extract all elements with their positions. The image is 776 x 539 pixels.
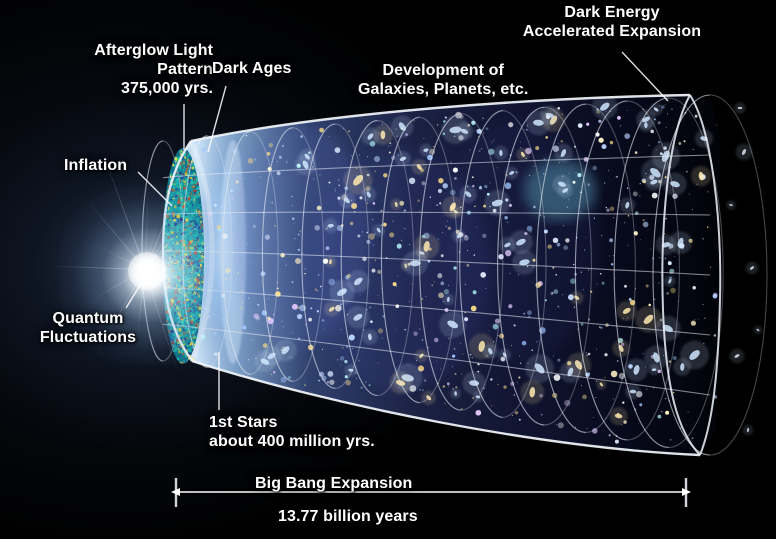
star — [369, 384, 371, 386]
star — [383, 173, 387, 177]
star — [437, 273, 442, 278]
star — [251, 340, 252, 341]
star — [609, 256, 610, 257]
star — [349, 334, 355, 340]
star — [507, 222, 508, 223]
star — [629, 298, 632, 301]
star — [557, 243, 561, 247]
cmb-pixel — [194, 182, 197, 184]
star — [674, 256, 675, 257]
star — [422, 390, 423, 391]
star — [318, 274, 320, 276]
star — [342, 347, 343, 348]
star — [335, 188, 336, 189]
star — [628, 245, 629, 246]
star — [462, 354, 463, 355]
star — [483, 132, 484, 133]
star — [434, 281, 435, 282]
star — [646, 284, 649, 287]
star — [504, 216, 507, 219]
star — [260, 177, 261, 178]
star — [242, 372, 243, 373]
star — [577, 173, 581, 177]
star — [479, 150, 481, 152]
star — [294, 238, 295, 239]
star — [588, 269, 589, 270]
star — [595, 397, 596, 398]
star — [255, 159, 256, 160]
outer-galaxies — [726, 102, 762, 435]
star — [345, 375, 348, 378]
star — [589, 373, 590, 374]
star — [665, 398, 666, 399]
star — [710, 267, 711, 268]
star — [567, 207, 568, 208]
star — [722, 361, 723, 362]
star — [574, 306, 575, 307]
star — [329, 380, 334, 385]
star — [242, 302, 243, 303]
star — [531, 349, 533, 351]
cmb-pixel — [192, 167, 194, 169]
star — [556, 424, 557, 425]
star — [474, 205, 476, 207]
star — [624, 285, 627, 288]
star — [444, 289, 449, 294]
star — [453, 266, 456, 269]
star — [493, 324, 499, 330]
star — [248, 359, 249, 360]
star — [658, 121, 661, 124]
star — [517, 382, 518, 383]
star — [247, 244, 248, 245]
star — [519, 356, 520, 357]
star — [335, 147, 341, 153]
star — [397, 275, 398, 276]
label-afterglow-light-pattern: Afterglow Light Pattern 375,000 yrs. — [28, 42, 213, 99]
star — [300, 135, 303, 138]
star — [664, 233, 665, 234]
star — [295, 258, 301, 264]
star — [661, 411, 663, 413]
star — [283, 326, 284, 327]
cmb-pixel — [184, 155, 186, 156]
star — [393, 282, 397, 286]
star — [530, 231, 531, 232]
star — [470, 354, 472, 356]
star — [639, 195, 640, 196]
star — [273, 371, 276, 374]
star — [670, 288, 676, 294]
star — [668, 261, 670, 263]
star — [520, 362, 521, 363]
star — [578, 123, 583, 128]
star — [292, 332, 293, 333]
star — [643, 222, 649, 228]
star — [717, 122, 722, 127]
star — [604, 182, 605, 183]
star — [763, 393, 764, 394]
star — [719, 417, 720, 418]
cmb-pixel — [174, 165, 175, 167]
star — [242, 325, 246, 329]
label-first-stars: 1st Stars about 400 million yrs. — [209, 414, 375, 452]
star — [642, 219, 644, 221]
star — [515, 411, 518, 414]
label-dark-energy: Dark Energy Accelerated Expansion — [498, 4, 726, 42]
star — [581, 385, 582, 386]
star — [633, 191, 638, 196]
star — [673, 356, 677, 360]
star — [511, 345, 512, 346]
star — [293, 223, 294, 224]
star — [726, 166, 728, 168]
star — [437, 124, 438, 125]
star — [338, 184, 340, 186]
star — [338, 179, 339, 180]
star — [471, 306, 477, 312]
star — [606, 209, 609, 212]
star — [554, 374, 561, 381]
star — [527, 226, 533, 232]
star — [608, 170, 609, 171]
star — [297, 174, 298, 175]
star — [263, 310, 264, 311]
star — [317, 291, 318, 292]
star — [380, 210, 382, 212]
star — [469, 149, 470, 150]
star — [315, 288, 318, 291]
star — [737, 249, 738, 250]
cmb-pixel — [182, 161, 185, 164]
star — [460, 343, 461, 344]
star — [455, 386, 457, 388]
cmb-pixel — [179, 166, 181, 168]
star — [448, 285, 449, 286]
cmb-pixel — [187, 155, 189, 158]
star — [671, 108, 673, 110]
star — [508, 122, 513, 127]
star — [575, 172, 576, 173]
star — [253, 225, 256, 228]
star — [520, 142, 521, 143]
star — [328, 136, 329, 137]
star — [472, 176, 474, 178]
star — [526, 129, 528, 131]
star — [348, 130, 350, 132]
star — [609, 238, 613, 242]
star — [359, 360, 360, 361]
star — [372, 269, 376, 273]
star — [563, 225, 564, 226]
star — [481, 148, 482, 149]
star — [652, 193, 658, 199]
star — [721, 331, 727, 337]
star — [323, 329, 324, 330]
star — [514, 394, 515, 395]
star — [596, 349, 597, 350]
star — [520, 147, 521, 148]
star — [473, 254, 475, 256]
star — [689, 193, 690, 194]
star — [508, 159, 509, 160]
star — [650, 249, 651, 250]
star — [297, 314, 302, 319]
star — [640, 239, 641, 240]
star — [326, 246, 330, 250]
star — [649, 145, 650, 146]
star — [617, 360, 619, 362]
star — [319, 174, 320, 175]
star — [471, 121, 473, 123]
star — [568, 199, 569, 200]
star — [605, 377, 606, 378]
star — [269, 143, 274, 148]
star — [702, 304, 703, 305]
star — [370, 320, 373, 323]
star — [692, 286, 696, 290]
star — [688, 411, 689, 412]
star — [692, 209, 693, 210]
star — [431, 284, 433, 286]
star — [317, 310, 319, 312]
star — [654, 299, 655, 300]
star — [366, 232, 368, 234]
star — [373, 202, 376, 205]
cmb-pixel — [173, 164, 175, 167]
star — [557, 359, 560, 362]
star — [666, 292, 669, 295]
star — [279, 156, 282, 159]
star — [245, 178, 246, 179]
star — [480, 272, 486, 278]
star — [404, 329, 406, 331]
star — [340, 356, 345, 361]
star — [553, 376, 554, 377]
star — [536, 341, 537, 342]
star — [561, 140, 563, 142]
star — [374, 156, 380, 162]
star — [713, 293, 717, 297]
star — [436, 204, 438, 206]
star — [353, 206, 354, 207]
star — [610, 207, 615, 212]
star — [390, 142, 391, 143]
star — [479, 186, 482, 189]
star — [390, 145, 391, 146]
star — [417, 199, 420, 202]
star — [304, 384, 305, 385]
star — [658, 415, 662, 419]
star — [337, 359, 338, 360]
star — [707, 226, 708, 227]
star — [292, 304, 298, 310]
star — [635, 151, 638, 154]
star — [395, 329, 396, 330]
star — [616, 176, 618, 178]
cmb-pixel — [180, 172, 182, 174]
cmb-pixel — [191, 172, 194, 175]
star — [248, 158, 254, 164]
star — [461, 374, 462, 375]
star — [411, 283, 412, 284]
star — [622, 401, 624, 403]
star — [604, 353, 607, 356]
axis-label-duration: 13.77 billion years — [278, 508, 418, 527]
star — [360, 387, 362, 389]
star — [483, 118, 484, 119]
star — [695, 115, 698, 118]
star — [615, 440, 619, 444]
star — [251, 310, 252, 311]
star — [550, 292, 553, 295]
axis-label-big-bang-expansion: Big Bang Expansion — [255, 475, 412, 494]
star — [298, 234, 300, 236]
star — [743, 100, 744, 101]
star — [582, 395, 587, 400]
star — [659, 257, 660, 258]
star — [397, 244, 402, 249]
star — [583, 289, 584, 290]
star — [482, 234, 486, 238]
star — [433, 146, 434, 147]
star — [586, 352, 587, 353]
star — [533, 166, 534, 167]
star — [600, 327, 602, 329]
star — [327, 381, 330, 384]
star — [613, 398, 615, 400]
star — [613, 217, 614, 218]
star — [277, 171, 281, 175]
star — [370, 243, 371, 244]
star — [335, 191, 336, 192]
star — [439, 202, 441, 204]
star — [694, 319, 695, 320]
star — [367, 203, 368, 204]
star — [441, 254, 444, 257]
star — [327, 371, 333, 377]
star — [565, 238, 569, 242]
star — [271, 374, 272, 375]
star — [485, 288, 486, 289]
star — [438, 238, 439, 239]
star — [750, 219, 752, 221]
star — [640, 183, 641, 184]
star — [357, 235, 360, 238]
star — [593, 417, 594, 418]
star — [305, 292, 306, 293]
star — [628, 215, 630, 217]
star — [486, 127, 489, 130]
star — [443, 385, 445, 387]
star — [235, 180, 238, 183]
star — [423, 138, 424, 139]
star — [282, 145, 284, 147]
star — [475, 410, 481, 416]
star — [313, 178, 314, 179]
cmb-pixel — [192, 181, 194, 183]
star — [268, 298, 269, 299]
star — [581, 271, 583, 273]
star — [534, 205, 535, 206]
star — [529, 175, 530, 176]
star — [693, 149, 694, 150]
star — [271, 202, 273, 204]
star — [292, 217, 294, 219]
star — [664, 257, 666, 259]
star — [547, 244, 551, 248]
star — [300, 231, 301, 232]
star — [558, 422, 564, 428]
star — [684, 140, 686, 142]
star — [505, 182, 512, 189]
star — [375, 260, 376, 261]
star — [378, 328, 383, 333]
star — [409, 178, 415, 184]
star — [448, 227, 451, 230]
star — [665, 104, 666, 105]
star — [241, 307, 243, 309]
star — [430, 196, 432, 198]
star — [360, 294, 361, 295]
star — [739, 180, 741, 182]
star — [658, 141, 660, 143]
star — [518, 274, 519, 275]
star — [256, 316, 260, 320]
star — [383, 223, 387, 227]
star — [686, 171, 687, 172]
star — [488, 330, 489, 331]
star — [389, 152, 391, 154]
star — [419, 329, 420, 330]
star — [569, 173, 570, 174]
star — [414, 120, 415, 121]
star — [586, 237, 587, 238]
star — [572, 181, 575, 184]
star — [310, 307, 312, 309]
star — [691, 321, 696, 326]
star — [409, 244, 410, 245]
star — [455, 373, 457, 375]
star — [596, 380, 597, 381]
star — [362, 231, 363, 232]
star — [438, 178, 443, 183]
star — [714, 334, 717, 337]
star — [298, 249, 300, 251]
star — [490, 182, 491, 183]
star — [305, 324, 306, 325]
star — [553, 238, 558, 243]
star — [372, 219, 373, 220]
star — [498, 384, 499, 385]
star — [712, 453, 713, 454]
star — [600, 273, 602, 275]
star — [570, 278, 576, 284]
star — [419, 389, 420, 390]
star — [643, 353, 644, 354]
star — [624, 133, 630, 139]
star — [340, 365, 341, 366]
star — [404, 209, 407, 212]
star — [365, 382, 366, 383]
star — [624, 222, 625, 223]
star — [422, 339, 423, 340]
star — [241, 290, 243, 292]
star — [555, 274, 557, 276]
star — [447, 221, 448, 222]
cmb-pixel — [171, 173, 173, 175]
star — [573, 264, 575, 266]
